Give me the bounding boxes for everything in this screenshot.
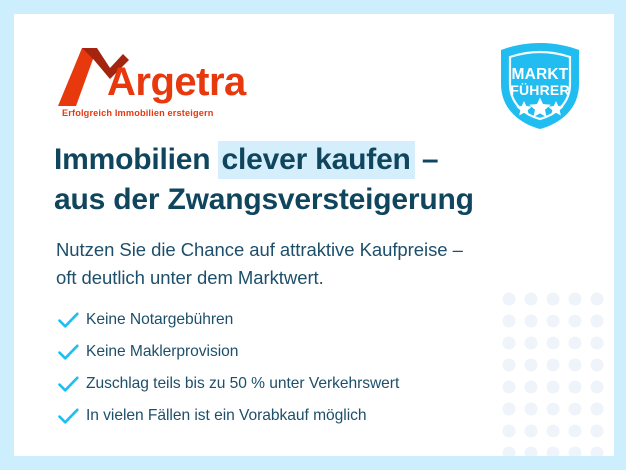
banner-card: Argetra Erfolgreich Immobilien ersteiger… — [14, 14, 614, 456]
list-item: Keine Maklerprovision — [54, 336, 524, 368]
promo-banner: Argetra Erfolgreich Immobilien ersteiger… — [0, 0, 626, 470]
headline-line1-before: Immobilien — [54, 143, 219, 176]
checkmark-icon — [54, 408, 86, 425]
list-item: Keine Notargebühren — [54, 304, 524, 336]
list-item: Zuschlag teils bis zu 50 % unter Verkehr… — [54, 368, 524, 400]
badge-line1: MARKT — [512, 66, 569, 83]
subtitle: Nutzen Sie die Chance auf attraktive Kau… — [56, 236, 556, 292]
list-item-label: Keine Notargebühren — [86, 311, 233, 329]
market-leader-badge: MARKT FÜHRER MARKT FÜHRER — [495, 40, 585, 132]
subtitle-line1: Nutzen Sie die Chance auf attraktive Kau… — [56, 239, 463, 260]
headline-line1: Immobilien clever kaufen – — [54, 143, 438, 176]
page-title: Immobilien clever kaufen – aus der Zwang… — [54, 140, 574, 220]
checkmark-icon — [54, 312, 86, 329]
benefits-list: Keine Notargebühren Keine Maklerprovisio… — [54, 304, 524, 432]
subtitle-line2: oft deutlich unter dem Marktwert. — [56, 267, 324, 288]
headline-highlight: clever kaufen — [218, 141, 415, 179]
argetra-logo[interactable]: Argetra Erfolgreich Immobilien ersteiger… — [56, 46, 256, 128]
checkmark-icon — [54, 344, 86, 361]
headline-line1-after: – — [414, 143, 439, 176]
list-item-label: In vielen Fällen ist ein Vorabkauf mögli… — [86, 407, 366, 425]
list-item-label: Zuschlag teils bis zu 50 % unter Verkehr… — [86, 375, 399, 393]
list-item: In vielen Fällen ist ein Vorabkauf mögli… — [54, 400, 524, 432]
logo-wordmark: Argetra — [107, 62, 246, 102]
logo-tagline: Erfolgreich Immobilien ersteigern — [62, 108, 213, 118]
list-item-label: Keine Maklerprovision — [86, 343, 238, 361]
checkmark-icon — [54, 376, 86, 393]
badge-line2: FÜHRER — [510, 82, 570, 98]
headline-line2: aus der Zwangsversteigerung — [54, 183, 474, 216]
